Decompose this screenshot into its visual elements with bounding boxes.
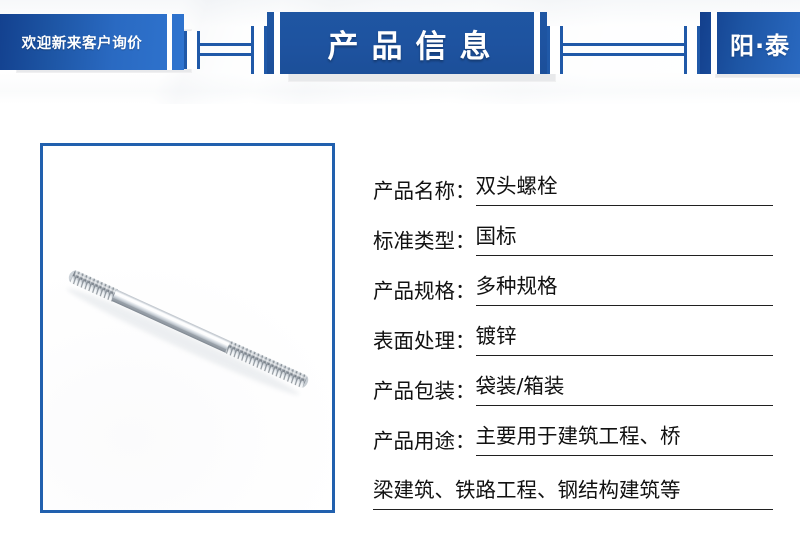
left-badge-label: 欢迎新来客户询价 <box>0 14 184 70</box>
spec-row: 产品用途： 主要用于建筑工程、桥 <box>373 406 773 456</box>
spec-value: 梁建筑、铁路工程、钢结构建筑等 <box>373 475 773 510</box>
page-title: 产品信息 <box>267 12 547 74</box>
rail-cap-center-left <box>251 26 267 74</box>
stud-bolt-illustration <box>43 146 332 510</box>
spec-value: 国标 <box>476 221 774 256</box>
header-banner: 欢迎新来客户询价 产品信息 阳·泰 <box>0 0 800 104</box>
spec-row: 梁建筑、铁路工程、钢结构建筑等 <box>373 456 773 510</box>
spec-row: 产品规格： 多种规格 <box>373 256 773 306</box>
spec-value: 双头螺栓 <box>476 171 774 206</box>
rail-cap-left <box>184 31 200 69</box>
brand-badge-label: 阳·泰 <box>700 12 800 74</box>
spec-value: 主要用于建筑工程、桥 <box>476 421 774 456</box>
spec-label: 产品规格： <box>373 276 476 306</box>
spec-label: 产品用途： <box>373 426 476 456</box>
product-image-frame <box>40 143 335 513</box>
spec-value: 袋装/箱装 <box>476 371 774 406</box>
product-info-banner: 欢迎新来客户询价 产品信息 阳·泰 <box>0 0 800 535</box>
spec-value: 镀锌 <box>476 321 774 356</box>
rail-cap-right <box>684 26 700 74</box>
left-badge: 欢迎新来客户询价 <box>0 14 184 70</box>
spec-row: 表面处理： 镀锌 <box>373 306 773 356</box>
brand-badge: 阳·泰 <box>700 12 800 74</box>
center-title-block: 产品信息 <box>267 12 547 74</box>
spec-row: 产品名称： 双头螺栓 <box>373 156 773 206</box>
rail-cap-center-right <box>547 26 563 74</box>
spec-label: 产品包装： <box>373 376 476 406</box>
product-photo <box>43 146 332 510</box>
spec-label: 表面处理： <box>373 326 476 356</box>
spec-value: 多种规格 <box>476 271 774 306</box>
spec-label: 产品名称： <box>373 176 476 206</box>
spec-row: 标准类型： 国标 <box>373 206 773 256</box>
spec-label: 标准类型： <box>373 226 476 256</box>
spec-row: 产品包装： 袋装/箱装 <box>373 356 773 406</box>
product-spec-list: 产品名称： 双头螺栓 标准类型： 国标 产品规格： 多种规格 表面处理： 镀锌 … <box>373 156 773 510</box>
content-area: 产品名称： 双头螺栓 标准类型： 国标 产品规格： 多种规格 表面处理： 镀锌 … <box>0 104 800 535</box>
